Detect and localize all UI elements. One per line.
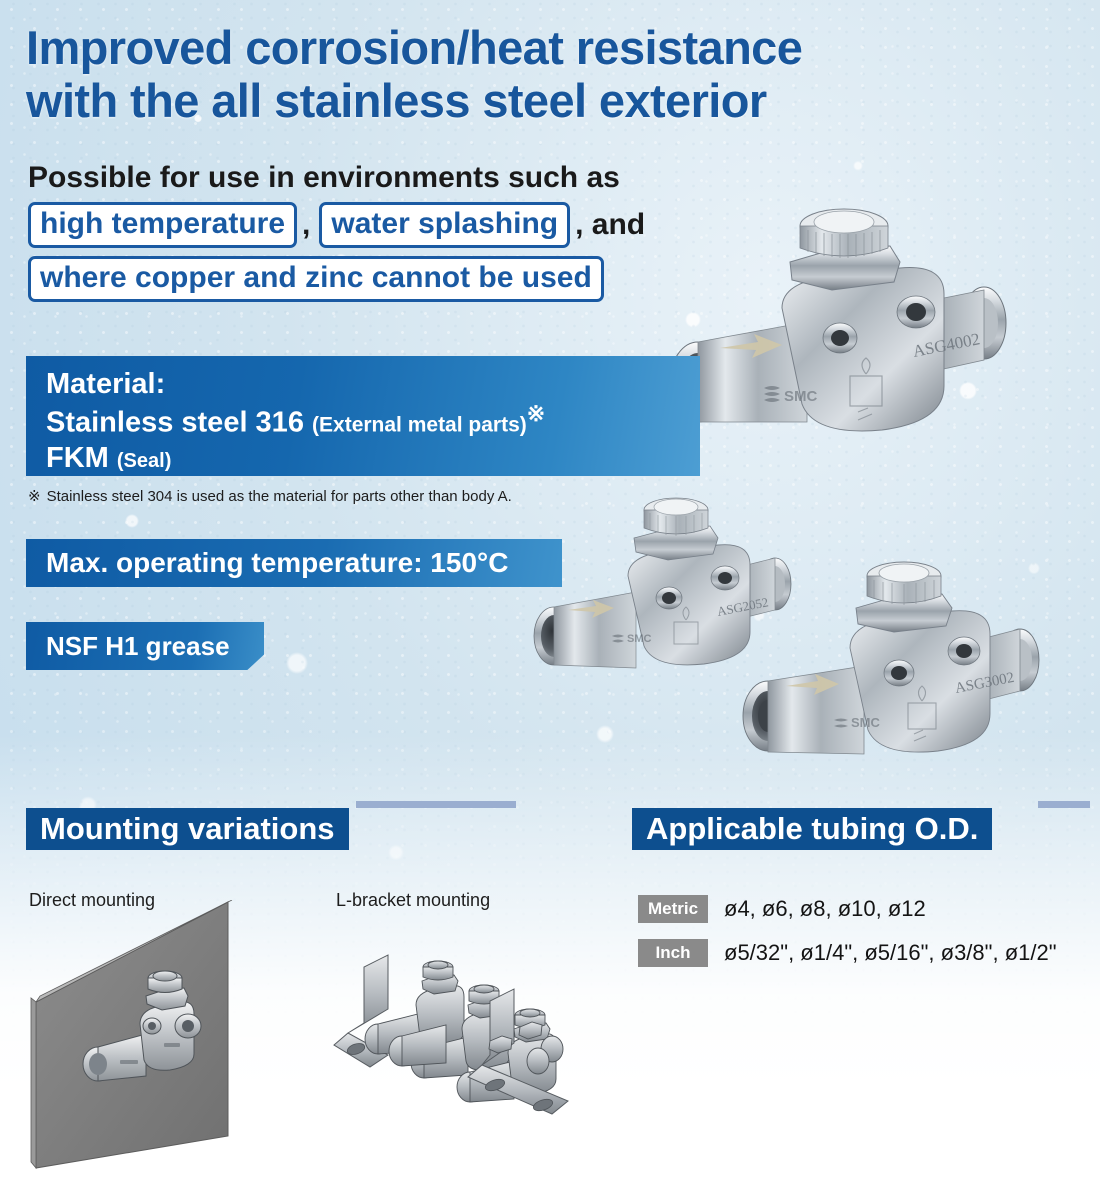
subheadline-chip-row-1: high temperature , water splashing , and: [28, 202, 728, 248]
section-accent-bar-mounting: [356, 801, 516, 808]
section-title-mounting: Mounting variations: [26, 808, 349, 850]
material-seal-note: (Seal): [117, 450, 171, 472]
illustration-lbracket-mounting: [330, 915, 600, 1130]
material-banner: Material: Stainless steel 316 (External …: [26, 356, 700, 476]
material-stainless-value: Stainless steel 316: [46, 407, 304, 439]
material-seal-value: FKM: [46, 442, 109, 474]
chip-separator-comma: ,: [297, 208, 319, 242]
tubing-values-metric: ø4, ø6, ø8, ø10, ø12: [724, 896, 926, 922]
svg-text:SMC: SMC: [627, 633, 652, 645]
footnote-text: Stainless steel 304 is used as the mater…: [47, 488, 512, 505]
label-lbracket-mounting: L-bracket mounting: [336, 890, 490, 911]
headline-line-1: Improved corrosion/heat resistance: [26, 22, 1026, 75]
temperature-banner: Max. operating temperature: 150°C: [26, 539, 562, 587]
tubing-values-inch: ø5/32", ø1/4", ø5/16", ø3/8", ø1/2": [724, 940, 1057, 966]
tubing-size-list: Metric ø4, ø6, ø8, ø10, ø12 Inch ø5/32",…: [638, 895, 1057, 983]
material-title: Material:: [46, 367, 700, 401]
tubing-tag-metric: Metric: [638, 895, 708, 923]
chip-water-splashing: water splashing: [319, 202, 570, 248]
footnote-symbol: ※: [28, 488, 41, 505]
chip-high-temperature: high temperature: [28, 202, 297, 248]
tubing-row-inch: Inch ø5/32", ø1/4", ø5/16", ø3/8", ø1/2": [638, 939, 1057, 967]
subheadline-block: Possible for use in environments such as…: [28, 163, 728, 310]
svg-text:SMC: SMC: [784, 388, 818, 405]
headline-line-2: with the all stainless steel exterior: [26, 75, 1026, 128]
material-stainless-superscript: ※: [527, 401, 545, 426]
material-stainless-row: Stainless steel 316 (External metal part…: [46, 401, 700, 441]
section-title-tubing: Applicable tubing O.D.: [632, 808, 992, 850]
grease-banner: NSF H1 grease: [26, 622, 264, 670]
subheadline-chip-row-2: where copper and zinc cannot be used: [28, 256, 728, 302]
tubing-tag-inch: Inch: [638, 939, 708, 967]
chip-conjunction-and: , and: [570, 208, 654, 242]
page-title: Improved corrosion/heat resistance with …: [26, 22, 1026, 127]
product-photo-asg3002: SMC ASG3002: [726, 548, 1071, 798]
section-header-tubing: Applicable tubing O.D.: [632, 808, 1092, 850]
svg-text:SMC: SMC: [851, 715, 881, 730]
material-stainless-note: (External metal parts): [312, 414, 527, 437]
material-seal-row: FKM (Seal): [46, 441, 700, 476]
chip-copper-zinc: where copper and zinc cannot be used: [28, 256, 604, 302]
tubing-row-metric: Metric ø4, ø6, ø8, ø10, ø12: [638, 895, 1057, 923]
direct-mounting-diagram: [28, 900, 318, 1180]
lbracket-mounting-diagram: [330, 915, 600, 1130]
illustration-direct-mounting: [28, 900, 318, 1180]
section-accent-bar-tubing: [1038, 801, 1090, 808]
subheadline-lead: Possible for use in environments such as: [28, 163, 728, 193]
section-header-mounting: Mounting variations: [26, 808, 486, 850]
valve-illustration-medium: SMC ASG3002: [726, 548, 1071, 798]
material-footnote: ※Stainless steel 304 is used as the mate…: [28, 487, 512, 505]
